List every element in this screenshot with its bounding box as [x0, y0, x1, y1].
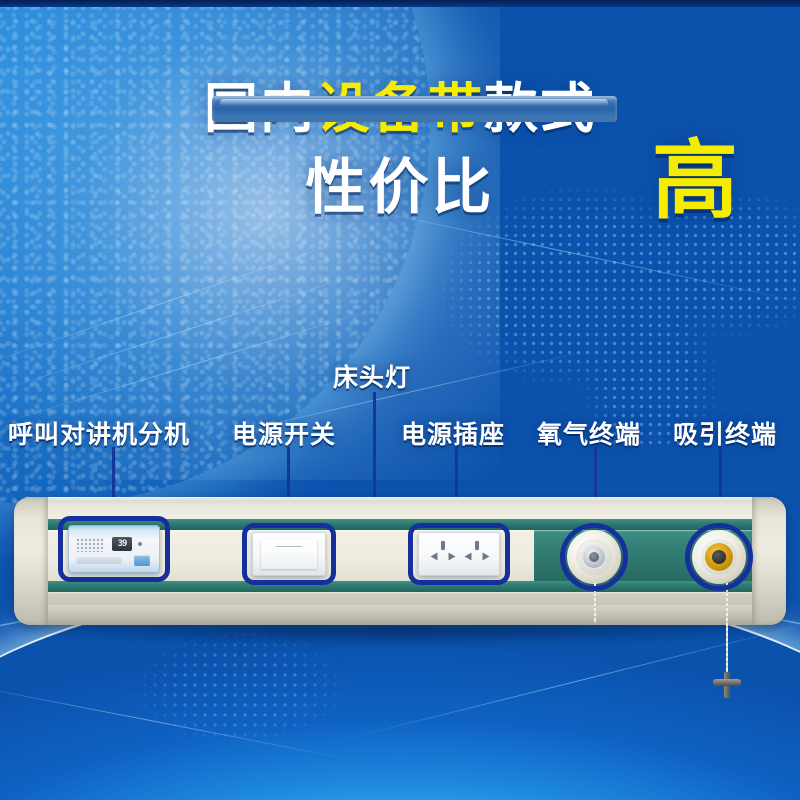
intercom-display: 39	[112, 537, 132, 551]
pull-cord-short	[594, 583, 596, 623]
headline-seg-4: 性价比	[306, 154, 495, 221]
power-switch-rocker[interactable]	[261, 539, 317, 569]
panel-end-cap-right	[752, 497, 786, 625]
suction-terminal-port	[712, 550, 726, 564]
callout-label-suction: 吸引终端	[673, 415, 777, 451]
headline-accent-gao: 高	[652, 138, 738, 224]
callout-label-power-switch: 电源开关	[232, 415, 336, 451]
socket-pin-left	[465, 553, 472, 561]
socket-pin-left	[431, 553, 438, 561]
power-socket-outlet-right[interactable]	[462, 540, 492, 568]
panel-end-cap-left	[14, 497, 48, 625]
status-led-icon	[138, 542, 142, 546]
intercom-slot	[76, 557, 122, 564]
equipment-rail-gloss	[220, 99, 608, 106]
intercom-call-button[interactable]	[134, 555, 150, 566]
switch-seam	[276, 546, 302, 547]
pull-cord-hook[interactable]	[713, 672, 741, 698]
oxygen-terminal-port	[589, 552, 599, 562]
power-socket-outlet-left[interactable]	[428, 540, 458, 568]
socket-pin-right	[449, 553, 456, 561]
pull-cord[interactable]	[726, 583, 728, 679]
hook-horizontal-bar	[713, 679, 741, 686]
panel-stripe-bottom	[48, 581, 752, 592]
callout-label-oxygen: 氧气终端	[537, 415, 641, 451]
top-edge-strip	[0, 0, 800, 7]
callout-label-power-socket: 电源插座	[401, 415, 505, 451]
suction-terminal[interactable]	[692, 530, 746, 584]
speaker-grille-icon	[76, 538, 104, 552]
poster-canvas: 国内设备带款式 性价比 高 呼叫对讲机分机 电源开关 床头灯 电源插座 氧气终端…	[0, 0, 800, 800]
nurse-call-intercom-unit[interactable]: 39	[68, 525, 160, 573]
socket-pin-vertical	[441, 541, 445, 550]
callout-label-intercom: 呼叫对讲机分机	[8, 415, 190, 451]
panel-bottom-lip	[24, 605, 776, 625]
socket-pin-right	[483, 553, 490, 561]
socket-pin-vertical	[475, 541, 479, 550]
callout-label-bed-lamp: 床头灯	[333, 358, 411, 394]
oxygen-terminal[interactable]	[567, 530, 621, 584]
